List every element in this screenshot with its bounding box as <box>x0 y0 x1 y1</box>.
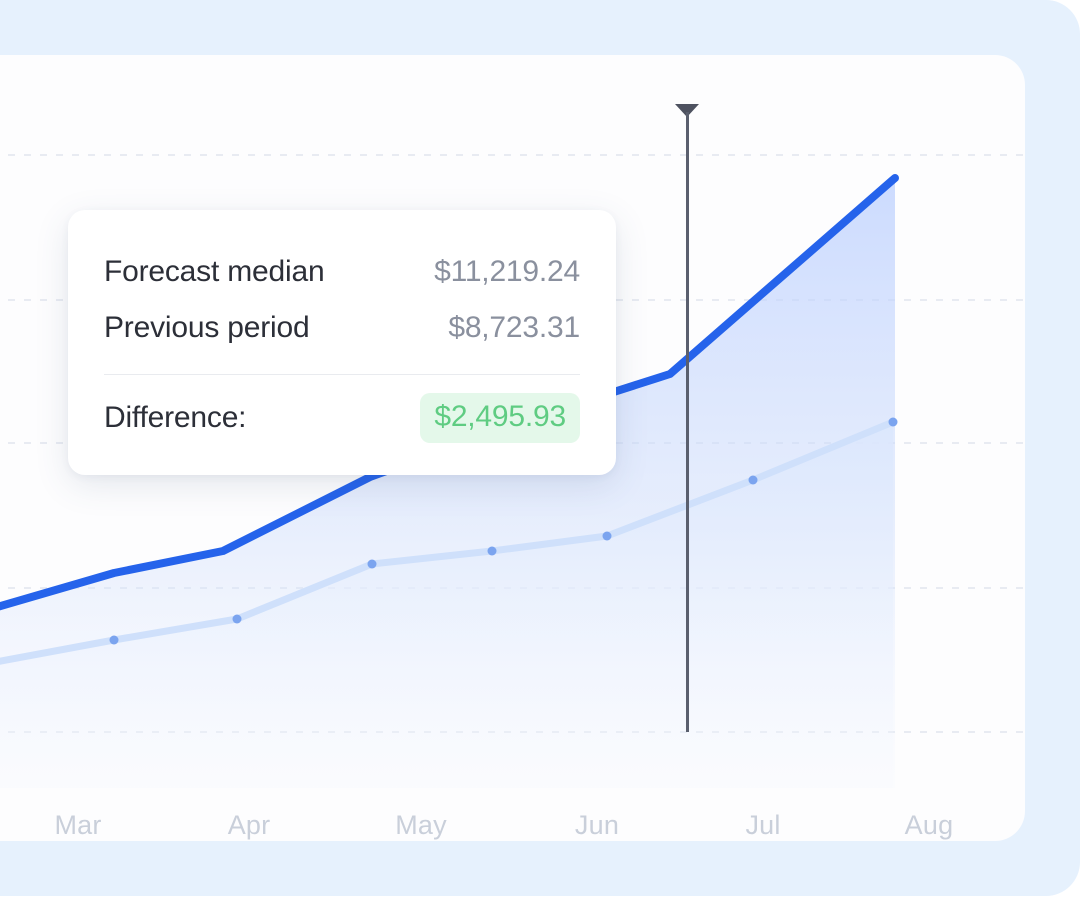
x-axis-label-apr: Apr <box>228 810 271 841</box>
tooltip-difference-badge: $2,495.93 <box>420 393 580 443</box>
x-axis-label-jun: Jun <box>575 810 619 841</box>
data-point-6[interactable] <box>749 476 758 485</box>
x-axis-label-may: May <box>395 810 447 841</box>
x-axis-label-jul: Jul <box>745 810 780 841</box>
tooltip-row-value: $8,723.31 <box>448 311 580 345</box>
tooltip-row: Previous period $8,723.31 <box>104 300 580 356</box>
data-point-4[interactable] <box>488 547 497 556</box>
data-point-7[interactable] <box>889 418 898 427</box>
tooltip-difference-row: Difference: $2,495.93 <box>104 391 580 445</box>
cursor-line[interactable] <box>686 112 689 732</box>
tooltip-row-label: Previous period <box>104 311 309 345</box>
tooltip-row-value: $11,219.24 <box>434 255 580 289</box>
tooltip-row-label: Forecast median <box>104 255 324 289</box>
data-point-5[interactable] <box>603 532 612 541</box>
data-point-2[interactable] <box>233 615 242 624</box>
data-point-3[interactable] <box>368 560 377 569</box>
data-point-1[interactable] <box>110 636 119 645</box>
chart-tooltip: Forecast median $11,219.24 Previous peri… <box>68 210 616 475</box>
tooltip-difference-label: Difference: <box>104 401 246 435</box>
tooltip-divider <box>104 374 580 375</box>
x-axis: MarAprMayJunJulAug <box>0 810 1025 841</box>
x-axis-label-aug: Aug <box>905 810 954 841</box>
screenshot-root: MarAprMayJunJulAug Forecast median $11,2… <box>0 0 1080 900</box>
x-axis-label-mar: Mar <box>54 810 101 841</box>
tooltip-row: Forecast median $11,219.24 <box>104 244 580 300</box>
